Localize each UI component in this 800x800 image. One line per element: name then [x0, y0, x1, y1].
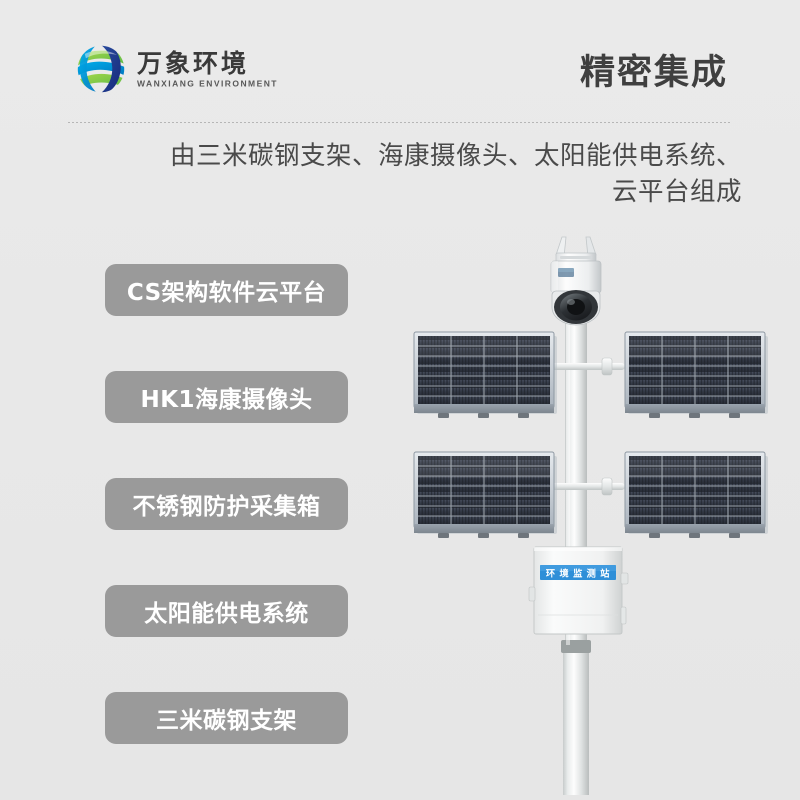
subtitle-line-1: 由三米碳钢支架、海康摄像头、太阳能供电系统、 [90, 138, 742, 174]
feature-list: CS架构软件云平台 HK1海康摄像头 不锈钢防护采集箱 太阳能供电系统 三米碳钢… [105, 264, 348, 799]
cabinet-label-text: 环 境 监 测 站 [546, 567, 610, 579]
feature-pill-cloud-platform[interactable]: CS架构软件云平台 [105, 264, 348, 316]
product-illustration: 环 境 监 测 站 [380, 215, 800, 800]
feature-pill-steel-mast[interactable]: 三米碳钢支架 [105, 692, 348, 744]
ptz-dome-camera-icon [551, 237, 601, 325]
subtitle-line-2: 云平台组成 [90, 174, 742, 210]
solar-panel-icon [414, 452, 557, 538]
globe-swirl-logo-icon [74, 42, 128, 96]
enclosure-cabinet-icon: 环 境 监 测 站 [529, 547, 628, 634]
feature-pill-camera[interactable]: HK1海康摄像头 [105, 371, 348, 423]
subtitle-block: 由三米碳钢支架、海康摄像头、太阳能供电系统、 云平台组成 [90, 138, 742, 210]
feature-pill-solar-power[interactable]: 太阳能供电系统 [105, 585, 348, 637]
header-divider [68, 122, 732, 123]
brand-text-block: 万象环境 WANXIANG ENVIRONMENT [137, 48, 278, 89]
brand-name-en: WANXIANG ENVIRONMENT [137, 79, 278, 88]
solar-panel-icon [414, 332, 557, 418]
solar-panel-icon [625, 452, 768, 538]
brand-name-cn: 万象环境 [137, 50, 278, 77]
page-header: 万象环境 WANXIANG ENVIRONMENT 精密集成 [0, 0, 800, 118]
page-title: 精密集成 [580, 44, 728, 95]
solar-panel-icon [625, 332, 768, 418]
feature-pill-enclosure[interactable]: 不锈钢防护采集箱 [105, 478, 348, 530]
poster-page: 万象环境 WANXIANG ENVIRONMENT 精密集成 由三米碳钢支架、海… [0, 0, 800, 800]
brand-lockup: 万象环境 WANXIANG ENVIRONMENT [74, 42, 278, 96]
